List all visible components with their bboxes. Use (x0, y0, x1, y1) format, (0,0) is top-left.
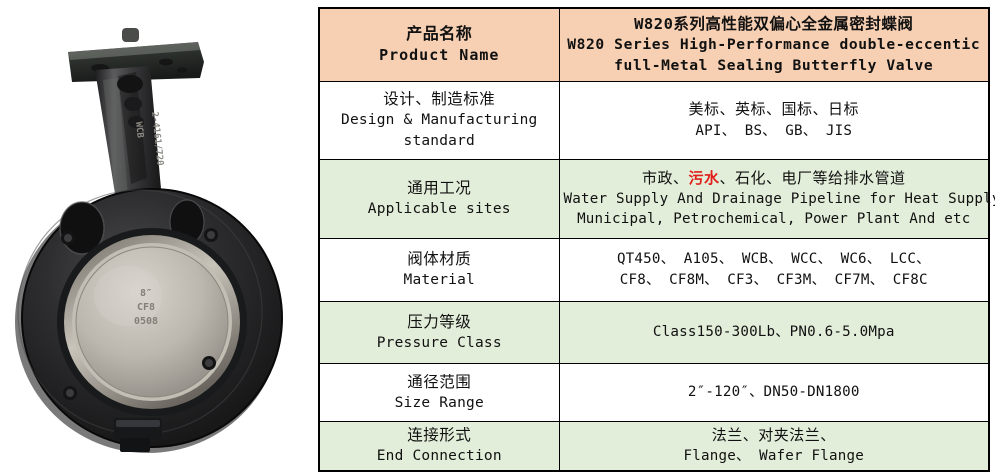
product-specification-table: 产品名称 Product Name W820系列高性能双偏心全金属密封蝶阀 W8… (318, 7, 990, 472)
label-cn: 设计、制造标准 (324, 88, 555, 110)
row-label-product-name: 产品名称 Product Name (319, 8, 559, 81)
label-en: Material (324, 270, 555, 291)
butterfly-valve-illustration: 2-4161/720 WCB (0, 0, 312, 476)
row-label-design-standard: 设计、制造标准 Design & Manufacturing standard (319, 81, 559, 159)
value-line-cn: 市政、污水、石化、电厂等给排水管道 (564, 168, 985, 189)
label-cn: 阀体材质 (324, 248, 555, 270)
value-line-en-1: 2″-120″、DN50-DN1800 (564, 382, 985, 402)
highlighted-term: 污水 (688, 169, 719, 187)
label-cn: 连接形式 (324, 424, 555, 446)
value-line-cn: 法兰、对夹法兰、 (564, 425, 985, 446)
value-line-en-1: W820 Series High-Performance double-ecce… (564, 35, 985, 56)
label-en: End Connection (324, 446, 555, 467)
label-en: Product Name (324, 45, 555, 66)
product-spec-page: 2-4161/720 WCB (0, 0, 995, 476)
svg-text:0508: 0508 (134, 316, 158, 327)
table-row: 通用工况 Applicable sites 市政、污水、石化、电厂等给排水管道 … (319, 159, 989, 238)
value-line-en-1: Water Supply And Drainage Pipeline for H… (564, 189, 985, 209)
row-label-applicable-sites: 通用工况 Applicable sites (319, 159, 559, 238)
label-cn: 压力等级 (324, 311, 555, 333)
row-value-product-name: W820系列高性能双偏心全金属密封蝶阀 W820 Series High-Per… (559, 8, 989, 81)
value-line-en-1: API、 BS、 GB、 JIS (564, 121, 985, 141)
svg-text:8″: 8″ (140, 288, 152, 299)
row-value-design-standard: 美标、英标、国标、日标 API、 BS、 GB、 JIS (559, 81, 989, 159)
value-line-en-1: QT450、 A105、 WCB、 WCC、 WC6、 LCC、 (564, 249, 985, 269)
value-line-cn: 美标、英标、国标、日标 (564, 99, 985, 120)
value-line-cn: W820系列高性能双偏心全金属密封蝶阀 (564, 13, 985, 35)
value-line-en-2: Municipal, Petrochemical, Power Plant An… (564, 209, 985, 229)
svg-text:WCB: WCB (133, 121, 145, 139)
table-row: 压力等级 Pressure Class Class150-300Lb、PN0.6… (319, 301, 989, 363)
value-line-en-2: full-Metal Sealing Butterfly Valve (564, 56, 985, 77)
label-cn: 通用工况 (324, 177, 555, 199)
table-row: 产品名称 Product Name W820系列高性能双偏心全金属密封蝶阀 W8… (319, 8, 989, 81)
row-value-end-connection: 法兰、对夹法兰、 Flange、 Wafer Flange (559, 421, 989, 471)
label-en: Size Range (324, 393, 555, 414)
table-row: 阀体材质 Material QT450、 A105、 WCB、 WCC、 WC6… (319, 238, 989, 301)
row-label-material: 阀体材质 Material (319, 238, 559, 301)
table-row: 通径范围 Size Range 2″-120″、DN50-DN1800 (319, 363, 989, 421)
value-line-en-1: Flange、 Wafer Flange (564, 446, 985, 466)
row-label-size-range: 通径范围 Size Range (319, 363, 559, 421)
row-value-pressure-class: Class150-300Lb、PN0.6-5.0Mpa (559, 301, 989, 363)
label-cn: 通径范围 (324, 371, 555, 393)
row-value-applicable-sites: 市政、污水、石化、电厂等给排水管道 Water Supply And Drain… (559, 159, 989, 238)
row-label-pressure-class: 压力等级 Pressure Class (319, 301, 559, 363)
table-row: 连接形式 End Connection 法兰、对夹法兰、 Flange、 Waf… (319, 421, 989, 471)
row-label-end-connection: 连接形式 End Connection (319, 421, 559, 471)
label-en: Applicable sites (324, 199, 555, 220)
svg-text:CF8: CF8 (137, 302, 155, 313)
label-en: Design & Manufacturing standard (324, 110, 555, 151)
label-en: Pressure Class (324, 333, 555, 354)
row-value-material: QT450、 A105、 WCB、 WCC、 WC6、 LCC、 CF8、 CF… (559, 238, 989, 301)
value-line-en-2: CF8、 CF8M、 CF3、 CF3M、 CF7M、 CF8C (564, 270, 985, 290)
value-line-en-1: Class150-300Lb、PN0.6-5.0Mpa (564, 322, 985, 342)
row-value-size-range: 2″-120″、DN50-DN1800 (559, 363, 989, 421)
product-photo: 2-4161/720 WCB (0, 0, 312, 476)
label-cn: 产品名称 (324, 23, 555, 46)
table-row: 设计、制造标准 Design & Manufacturing standard … (319, 81, 989, 159)
